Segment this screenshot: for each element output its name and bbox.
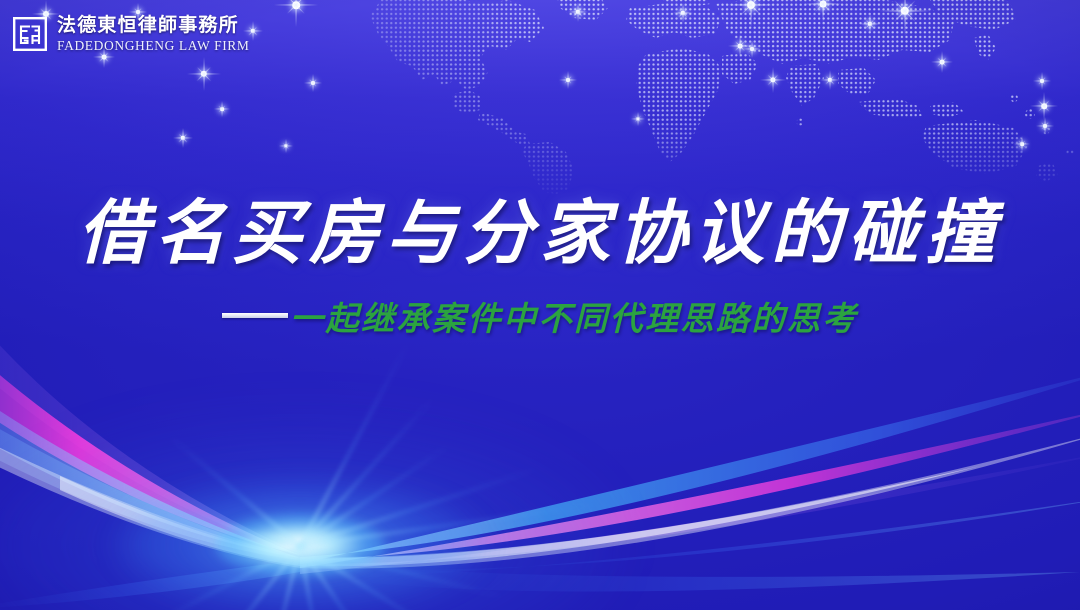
title-block: 借名买房与分家协议的碰撞 一起继承案件中不同代理思路的思考 (0, 196, 1080, 340)
em-dash-rule (222, 313, 288, 318)
subtitle: 一起继承案件中不同代理思路的思考 (290, 292, 858, 340)
fadedongheng-seal-icon (12, 16, 48, 52)
subtitle-row: 一起继承案件中不同代理思路的思考 (0, 292, 1080, 340)
law-firm-name-english: FADEDONGHENG LAW FIRM (57, 39, 250, 53)
law-firm-name-chinese: 法德東恒律師事務所 (57, 16, 250, 35)
presentation-slide: 法德東恒律師事務所 FADEDONGHENG LAW FIRM 借名买房与分家协… (0, 0, 1080, 610)
law-firm-name: 法德東恒律師事務所 FADEDONGHENG LAW FIRM (57, 16, 250, 53)
main-title: 借名买房与分家协议的碰撞 (0, 196, 1080, 270)
law-firm-logo[interactable]: 法德東恒律師事務所 FADEDONGHENG LAW FIRM (12, 16, 250, 53)
